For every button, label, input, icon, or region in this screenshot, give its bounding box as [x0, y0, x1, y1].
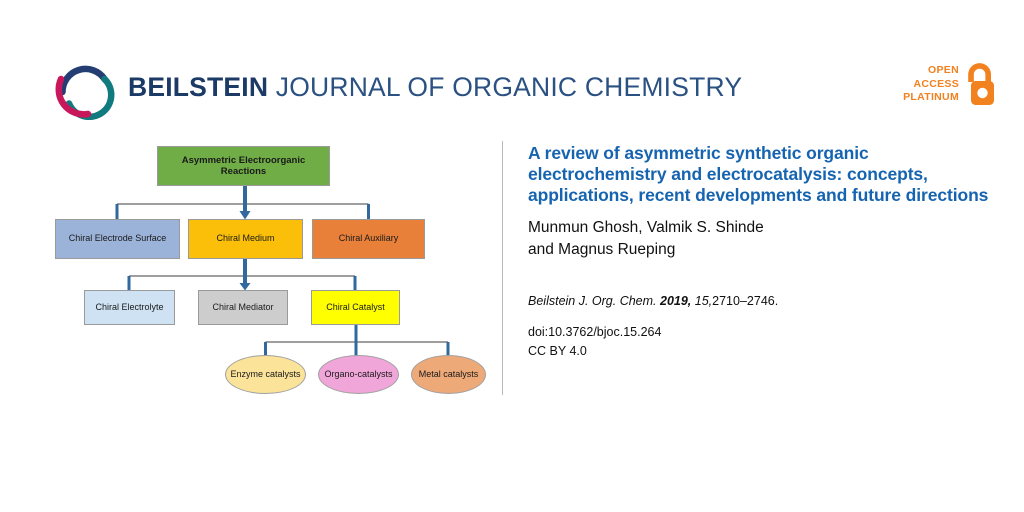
citation-journal: Beilstein J. Org. Chem.: [528, 294, 657, 308]
article-citation: Beilstein J. Org. Chem. 2019, 15,2710–27…: [528, 294, 998, 308]
article-metadata-panel: A review of asymmetric synthetic organic…: [528, 143, 998, 361]
flowchart-node-chiral-mediator: Chiral Mediator: [198, 290, 288, 325]
flowchart-node-chiral-medium: Chiral Medium: [188, 219, 303, 259]
flowchart-node-chiral-electrolyte: Chiral Electrolyte: [84, 290, 175, 325]
citation-pages: 2710–2746.: [712, 294, 778, 308]
flowchart-node-label: Organo-catalysts: [324, 369, 392, 380]
flowchart-node-label: Chiral Catalyst: [326, 302, 385, 314]
flowchart-node-label: Chiral Auxiliary: [339, 233, 399, 245]
flowchart-node-metal-catalysts: Metal catalysts: [411, 355, 486, 394]
article-authors-line-2: and Magnus Rueping: [528, 239, 998, 261]
open-access-label: OPEN ACCESS PLATINUM: [903, 64, 959, 105]
article-title: A review of asymmetric synthetic organic…: [528, 143, 998, 206]
flowchart-node-label: Enzyme catalysts: [230, 369, 300, 380]
open-padlock-icon: [961, 62, 999, 110]
flowchart-node-label: Metal catalysts: [419, 369, 479, 380]
flowchart-node-label: Chiral Electrode Surface: [69, 233, 167, 245]
flowchart-node-label: Asymmetric Electroorganic Reactions: [158, 155, 329, 178]
article-doi[interactable]: doi:10.3762/bjoc.15.264: [528, 323, 998, 342]
article-authors-line-1: Munmun Ghosh, Valmik S. Shinde: [528, 217, 998, 239]
flowchart-node-label: Chiral Medium: [216, 233, 274, 245]
flowchart-node-chiral-catalyst: Chiral Catalyst: [311, 290, 400, 325]
flowchart-node-chiral-auxiliary: Chiral Auxiliary: [312, 219, 425, 259]
flowchart-node-label: Chiral Mediator: [212, 302, 273, 314]
article-doi-license: doi:10.3762/bjoc.15.264 CC BY 4.0: [528, 323, 998, 361]
citation-year: 2019,: [660, 294, 691, 308]
asymmetric-electroorganic-reactions-flowchart: Asymmetric Electroorganic Reactions Chir…: [0, 0, 502, 512]
open-access-line-3: PLATINUM: [903, 91, 959, 105]
flowchart-node-chiral-electrode-surface: Chiral Electrode Surface: [55, 219, 180, 259]
flowchart-node-enzyme-catalysts: Enzyme catalysts: [225, 355, 306, 394]
open-access-line-1: OPEN: [903, 64, 959, 78]
flowchart-node-label: Chiral Electrolyte: [95, 302, 163, 314]
article-license[interactable]: CC BY 4.0: [528, 342, 998, 361]
open-access-line-2: ACCESS: [903, 78, 959, 92]
open-access-badge: OPEN ACCESS PLATINUM: [889, 62, 999, 120]
flowchart-node-organo-catalysts: Organo-catalysts: [318, 355, 399, 394]
vertical-divider: [502, 141, 503, 395]
citation-volume: 15,: [695, 294, 712, 308]
flowchart-node-asymmetric-electroorganic-reactions: Asymmetric Electroorganic Reactions: [157, 146, 330, 186]
article-authors: Munmun Ghosh, Valmik S. Shinde and Magnu…: [528, 217, 998, 261]
